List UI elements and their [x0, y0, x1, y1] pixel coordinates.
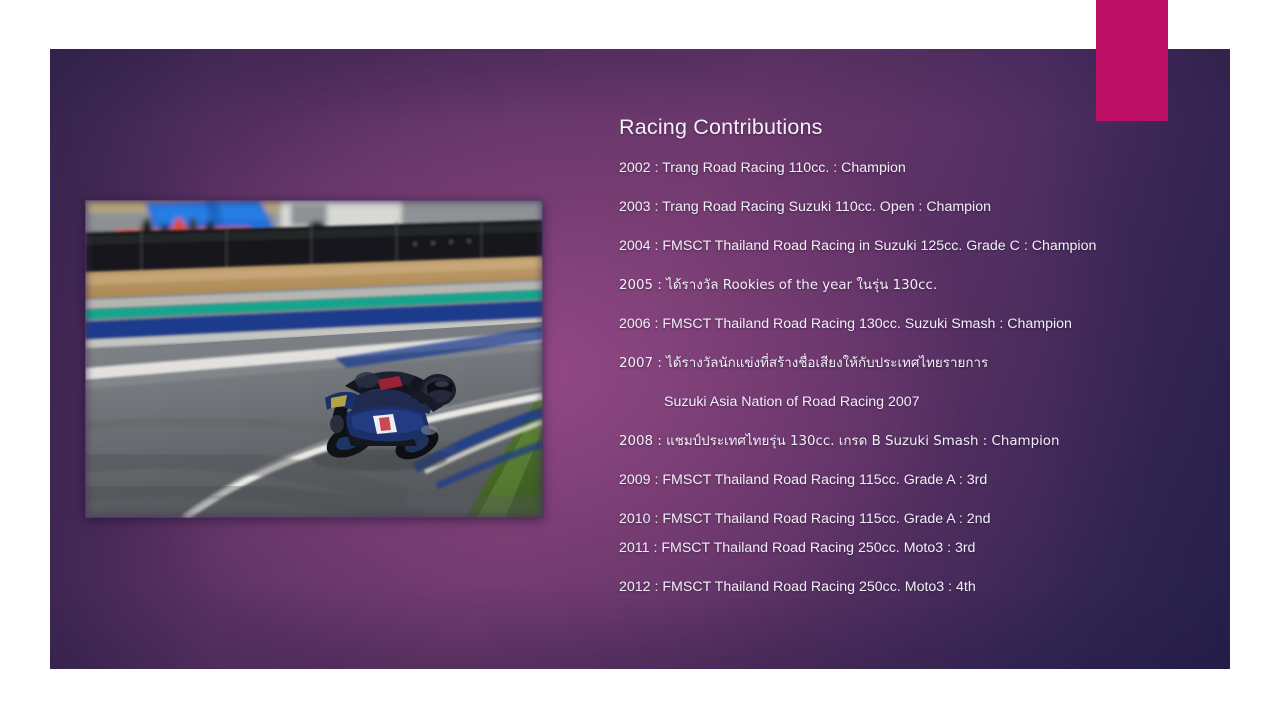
racing-photo-image [85, 200, 543, 518]
list-item-sub: Suzuki Asia Nation of Road Racing 2007 [619, 393, 1179, 412]
list-item: 2012 : FMSCT Thailand Road Racing 250cc.… [619, 578, 1179, 597]
slide-canvas: Racing Contributions 2002 : Trang Road R… [0, 0, 1280, 720]
list-item: 2003 : Trang Road Racing Suzuki 110cc. O… [619, 198, 1179, 217]
list-item: 2004 : FMSCT Thailand Road Racing in Suz… [619, 237, 1179, 256]
achievements-list: 2002 : Trang Road Racing 110cc. : Champi… [619, 159, 1179, 597]
page-title: Racing Contributions [619, 113, 1179, 141]
list-item: 2010 : FMSCT Thailand Road Racing 115cc.… [619, 510, 1179, 529]
list-item: 2009 : FMSCT Thailand Road Racing 115cc.… [619, 471, 1179, 490]
list-item: 2006 : FMSCT Thailand Road Racing 130cc.… [619, 315, 1179, 334]
racing-scene-illustration [85, 200, 543, 518]
content-text-column: Racing Contributions 2002 : Trang Road R… [619, 113, 1179, 597]
pink-accent-bar [1096, 0, 1168, 121]
list-item: 2011 : FMSCT Thailand Road Racing 250cc.… [619, 539, 1179, 558]
list-item: 2008 : แชมป์ประเทศไทยรุ่น 130cc. เกรด B … [619, 432, 1179, 451]
racing-photo [85, 200, 543, 518]
list-item: 2005 : ได้รางวัล Rookies of the year ในร… [619, 276, 1179, 295]
list-item: 2007 : ได้รางวัลนักแข่งที่สร้างชื่อเสียง… [619, 354, 1179, 373]
list-item: 2002 : Trang Road Racing 110cc. : Champi… [619, 159, 1179, 178]
